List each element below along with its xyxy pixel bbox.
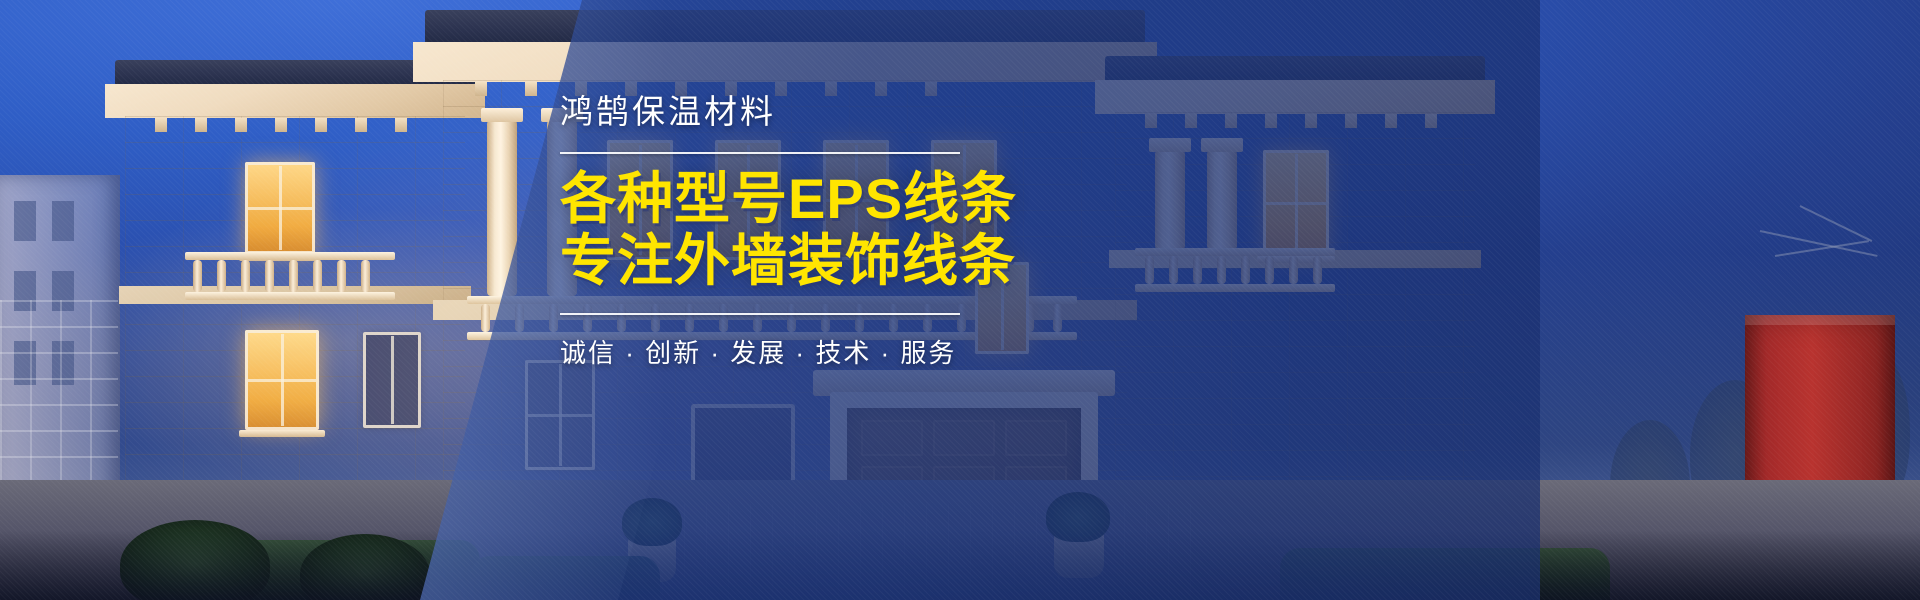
window-center-low-1 <box>525 360 595 470</box>
window-left-upper <box>245 162 315 254</box>
dentil-r4 <box>1265 114 1277 128</box>
bottom-vignette <box>0 530 1920 600</box>
dentil-l2 <box>195 118 207 132</box>
headline-line-1: 各种型号EPS线条 <box>560 168 1080 231</box>
column-cap-1 <box>481 108 523 122</box>
divider-top <box>560 152 960 154</box>
dentil-r7 <box>1385 114 1397 128</box>
dentil-r8 <box>1425 114 1437 128</box>
divider-bottom <box>560 313 960 315</box>
roof-center <box>425 10 1145 44</box>
column-right-1 <box>1155 150 1185 250</box>
tagline: 诚信 · 创新 · 发展 · 技术 · 服务 <box>560 333 1080 370</box>
cornice-center <box>413 42 1157 82</box>
dentil-l6 <box>355 118 367 132</box>
window-left-lower <box>245 330 319 430</box>
column-center-1 <box>487 120 517 296</box>
column-cap-r2 <box>1201 138 1243 152</box>
dentil-r1 <box>1145 114 1157 128</box>
dentil-c2 <box>525 82 537 96</box>
column-right-2 <box>1207 150 1237 250</box>
sill-left-lower <box>239 430 325 437</box>
balustrade-right <box>1135 248 1335 292</box>
dentil-l3 <box>235 118 247 132</box>
promo-banner: 鸿鹄保温材料 各种型号EPS线条 专注外墙装饰线条 诚信 · 创新 · 发展 ·… <box>0 0 1920 600</box>
column-cap-r1 <box>1149 138 1191 152</box>
balustrade-left <box>185 252 395 300</box>
dentil-r5 <box>1305 114 1317 128</box>
window-left-small <box>363 332 421 428</box>
window-right-upper <box>1263 150 1329 256</box>
headline-line-2: 专注外墙装饰线条 <box>560 230 1080 293</box>
brand-name: 鸿鹄保温材料 <box>560 92 1080 132</box>
dentil-l5 <box>315 118 327 132</box>
roof-right-wing <box>1105 56 1485 82</box>
dentil-l1 <box>155 118 167 132</box>
banner-copy-block: 鸿鹄保温材料 各种型号EPS线条 专注外墙装饰线条 诚信 · 创新 · 发展 ·… <box>560 92 1080 370</box>
dentil-r2 <box>1185 114 1197 128</box>
dentil-r3 <box>1225 114 1237 128</box>
dentil-l7 <box>395 118 407 132</box>
dentil-c1 <box>475 82 487 96</box>
dentil-l4 <box>275 118 287 132</box>
cornice-right-wing <box>1095 80 1495 114</box>
cornice-left-wing <box>105 84 485 118</box>
dentil-r6 <box>1345 114 1357 128</box>
